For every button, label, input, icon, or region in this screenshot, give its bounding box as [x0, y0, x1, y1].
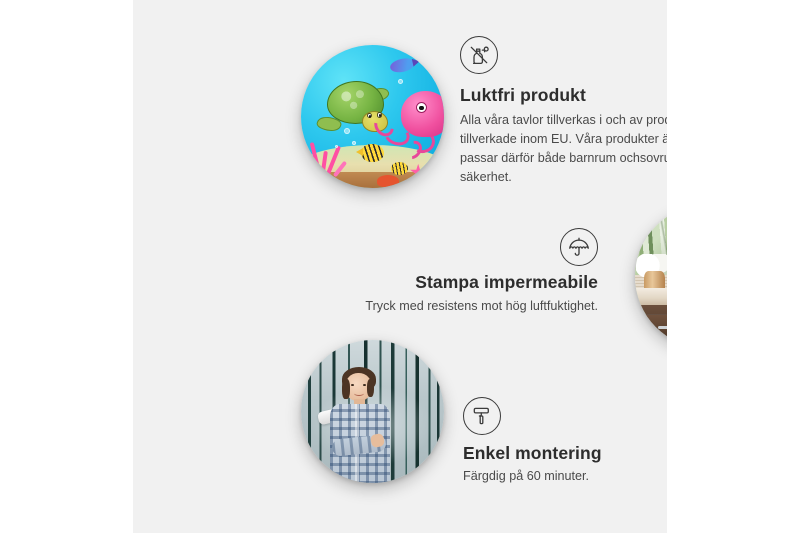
drawer-handle: [658, 326, 667, 329]
octopus-eye: [416, 102, 427, 113]
bathroom-scene: [635, 205, 667, 348]
feature-block-waterproof: Stampa impermeabile Tryck med resistens …: [293, 228, 598, 316]
feature-title: Luktfri produkt: [460, 85, 667, 106]
product-photo-bathroom[interactable]: [635, 205, 667, 348]
woman-hair-side-left: [342, 379, 349, 399]
feature-block-easy-mounting: Enkel montering Färgdig på 60 minuter.: [463, 397, 667, 486]
product-photo-ocean[interactable]: [301, 45, 444, 188]
feature-description: Tryck med resistens mot hög luftfuktighe…: [293, 297, 598, 316]
paint-roller-icon: [463, 397, 501, 435]
ocean-scene: [301, 45, 444, 188]
product-photo-forest[interactable]: [301, 340, 444, 483]
woman-smile: [354, 391, 364, 396]
feature-title: Stampa impermeabile: [293, 272, 598, 293]
woman-eye-right: [363, 384, 366, 386]
countertop: [635, 288, 667, 305]
feature-title: Enkel montering: [463, 443, 667, 464]
woman-eye-left: [351, 384, 354, 386]
feature-description: Alla våra tavlor tillverkas i och av pro…: [460, 111, 667, 188]
feature-block-odour-free: Luktfri produkt Alla våra tavlor tillver…: [460, 36, 667, 188]
octopus-head: [401, 91, 444, 137]
content-panel: Luktfri produkt Alla våra tavlor tillver…: [133, 0, 667, 533]
yellow-striped-fish: [361, 144, 384, 163]
no-odour-perfume-bottle-icon: [460, 36, 498, 74]
bubble: [344, 128, 350, 134]
promo-page: Luktfri produkt Alla våra tavlor tillver…: [0, 0, 800, 533]
forest-scene: [301, 340, 444, 483]
umbrella-icon: [560, 228, 598, 266]
crab: [377, 175, 399, 187]
feature-icon-wrapper: [293, 228, 598, 266]
woman-hair-side-right: [367, 379, 374, 398]
feature-description: Färgdig på 60 minuter.: [463, 467, 667, 486]
